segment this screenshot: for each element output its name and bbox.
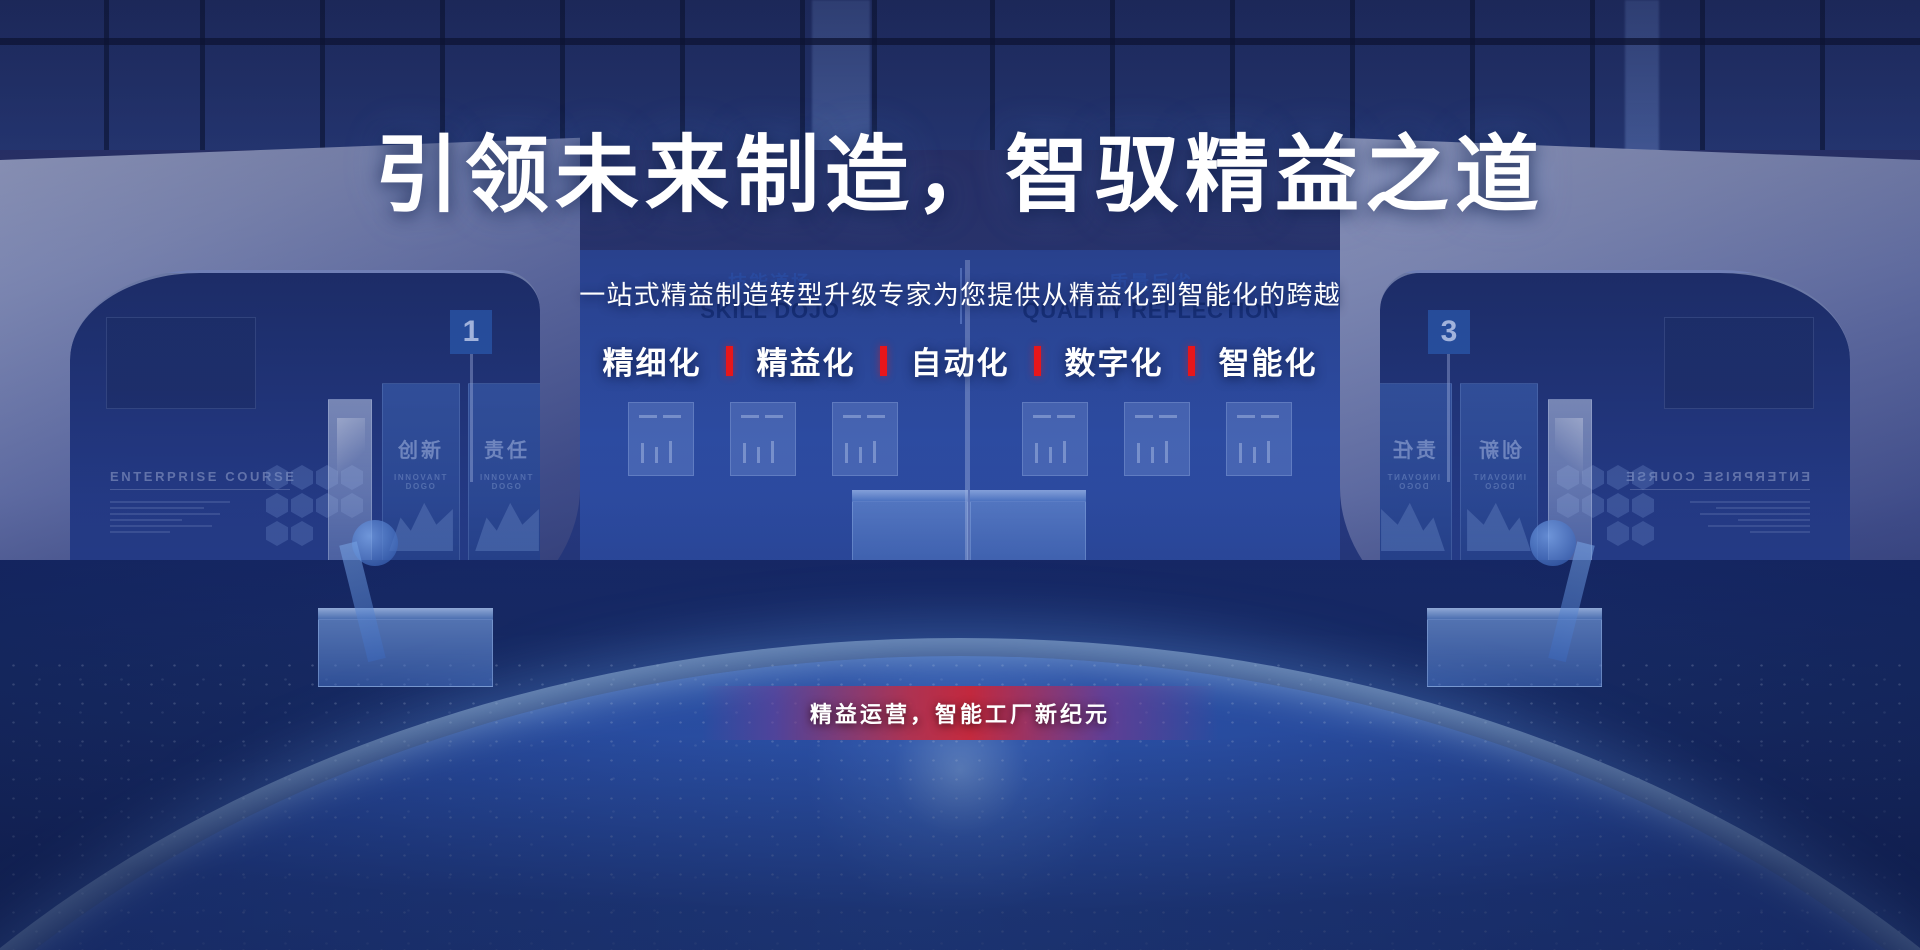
keyword-separator-icon bbox=[726, 346, 733, 376]
keyword-item[interactable]: 自动化 bbox=[887, 338, 1034, 383]
keyword-item[interactable]: 数字化 bbox=[1041, 338, 1188, 383]
keyword-separator-icon bbox=[1034, 346, 1041, 376]
hero-subtitle: 一站式精益制造转型升级专家为您提供从精益化到智能化的跨越 bbox=[579, 275, 1341, 312]
keyword-item[interactable]: 精细化 bbox=[579, 338, 726, 383]
page-title: 引领未来制造，智驭精益之道 bbox=[375, 133, 1545, 217]
keyword-item[interactable]: 智能化 bbox=[1195, 338, 1342, 383]
hero-content: 引领未来制造，智驭精益之道 一站式精益制造转型升级专家为您提供从精益化到智能化的… bbox=[0, 0, 1920, 950]
keyword-row: 精细化 精益化 自动化 数字化 智能化 bbox=[579, 338, 1342, 383]
keyword-separator-icon bbox=[1188, 346, 1195, 376]
tagline-badge: 精益运营，智能工厂新纪元 bbox=[702, 686, 1218, 740]
tagline-text: 精益运营，智能工厂新纪元 bbox=[810, 697, 1110, 729]
keyword-separator-icon bbox=[880, 346, 887, 376]
keyword-item[interactable]: 精益化 bbox=[733, 338, 880, 383]
hero-banner: ENTERPRISE COURSE 创新 INNOVANT DOGO bbox=[0, 0, 1920, 950]
